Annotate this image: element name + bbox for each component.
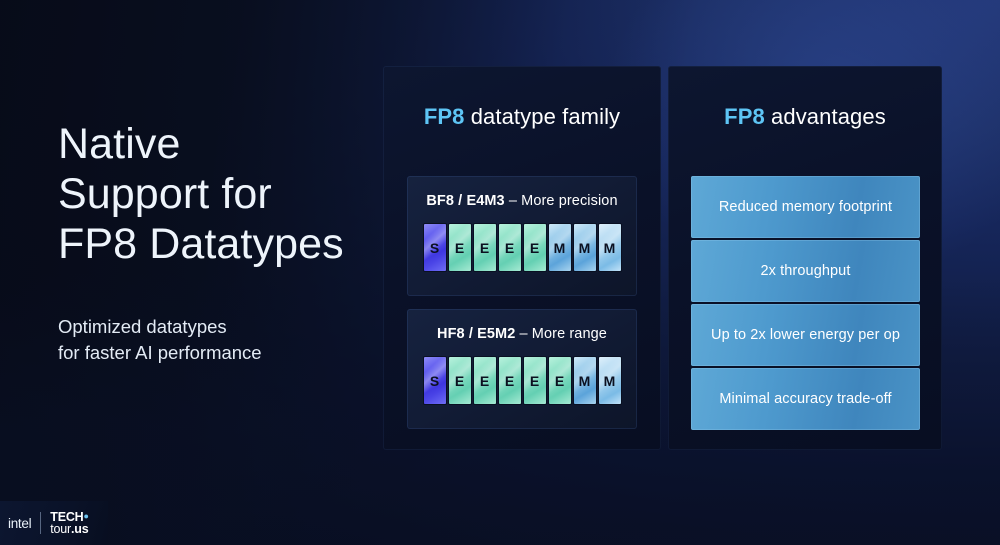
- bit-cell-mantissa: M: [599, 224, 621, 271]
- bit-cell-exponent: E: [499, 357, 521, 404]
- advantage-pill: Reduced memory footprint: [691, 176, 920, 238]
- bit-cell-mantissa: M: [574, 224, 596, 271]
- intel-logo: intel: [0, 516, 40, 531]
- panel-title-rest: datatype family: [464, 104, 620, 129]
- bit-cell-mantissa: M: [574, 357, 596, 404]
- datatype-name: HF8 / E5M2: [437, 326, 515, 342]
- bit-cell-exponent: E: [524, 224, 546, 271]
- datatype-name: BF8 / E4M3: [426, 193, 504, 209]
- datatype-card-label: HF8 / E5M2 – More range: [407, 326, 637, 342]
- advantage-pill: Up to 2x lower energy per op: [691, 304, 920, 366]
- panel-title-accent: FP8: [724, 104, 765, 129]
- panel-title-accent: FP8: [424, 104, 465, 129]
- datatype-card-bf8: BF8 / E4M3 – More precision S E E E E M …: [407, 176, 637, 296]
- bit-cell-exponent: E: [499, 224, 521, 271]
- advantage-pill: 2x throughput: [691, 240, 920, 302]
- tech-tour-logo-bottom: tour.us: [50, 523, 88, 536]
- panel-title-advantages: FP8 advantages: [668, 104, 942, 130]
- bit-cell-exponent: E: [474, 357, 496, 404]
- bit-layout-hf8: S E E E E E M M: [407, 357, 637, 404]
- page-title: Native Support for FP8 Datatypes: [58, 120, 378, 270]
- bit-cell-exponent: E: [449, 224, 471, 271]
- bit-cell-exponent: E: [549, 357, 571, 404]
- title-block: Native Support for FP8 Datatypes Optimiz…: [58, 120, 378, 366]
- bit-cell-sign: S: [424, 357, 446, 404]
- slide-root: Native Support for FP8 Datatypes Optimiz…: [0, 0, 1000, 545]
- bit-cell-mantissa: M: [599, 357, 621, 404]
- tech-tour-dot-icon: ●: [84, 511, 89, 521]
- bit-layout-bf8: S E E E E M M M: [407, 224, 637, 271]
- bit-cell-mantissa: M: [549, 224, 571, 271]
- datatype-desc: – More range: [515, 326, 607, 342]
- panel-advantages: FP8 advantages Reduced memory footprint …: [668, 66, 942, 450]
- page-subtitle: Optimized datatypes for faster AI perfor…: [58, 314, 378, 367]
- advantage-pill: Minimal accuracy trade-off: [691, 368, 920, 430]
- bit-cell-exponent: E: [524, 357, 546, 404]
- bit-cell-sign: S: [424, 224, 446, 271]
- panel-title-rest: advantages: [765, 104, 886, 129]
- tech-tour-logo: TECH● tour.us: [41, 511, 88, 536]
- datatype-card-label: BF8 / E4M3 – More precision: [407, 193, 637, 209]
- datatype-card-hf8: HF8 / E5M2 – More range S E E E E E M M: [407, 309, 637, 429]
- panel-datatype-family: FP8 datatype family BF8 / E4M3 – More pr…: [383, 66, 661, 450]
- footer-logo-lockup: intel TECH● tour.us: [0, 501, 108, 545]
- bit-cell-exponent: E: [474, 224, 496, 271]
- bit-cell-exponent: E: [449, 357, 471, 404]
- datatype-desc: – More precision: [505, 193, 618, 209]
- panel-title-datatype-family: FP8 datatype family: [383, 104, 661, 130]
